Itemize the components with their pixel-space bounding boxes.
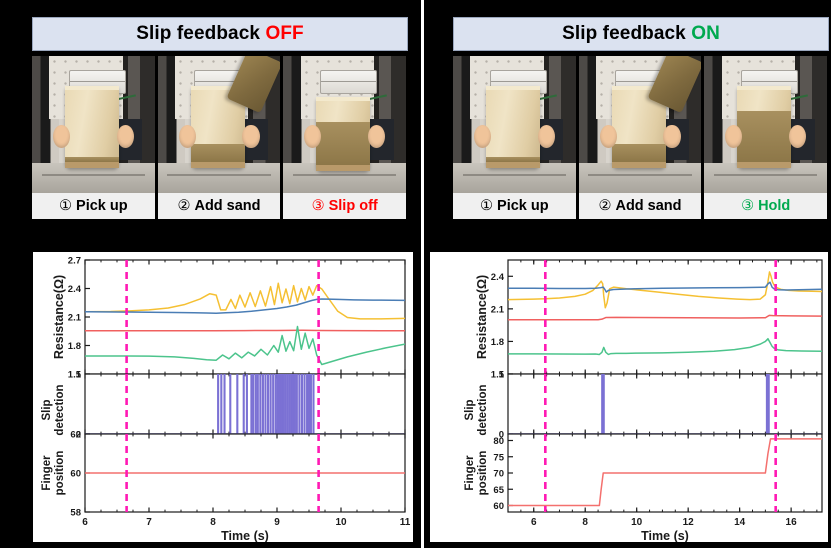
caption-on-3-num: ③ [741,198,754,214]
axis-label-slip: Slip [41,399,53,420]
photo-cell-off-1: ①Pick up [32,56,155,219]
panel-slip-feedback-off: Slip feedback OFF ①Pick up [0,0,421,548]
plot-frame [85,374,405,434]
caption-off-2-num: ② [177,198,190,214]
caption-on-2: ②Add sand [579,193,702,219]
y-tick-label: 60 [70,469,81,480]
y-tick-label: 80 [493,436,504,447]
x-tick-label: 16 [786,517,798,528]
caption-off-2-label: Add sand [194,198,260,214]
caption-off-2: ②Add sand [158,193,281,219]
x-tick-label: 14 [734,517,746,528]
caption-off-3-label: Slip off [329,198,378,214]
banner-on: Slip feedback ON [453,17,829,51]
y-tick-label: 65 [493,485,504,496]
caption-on-1: ①Pick up [453,193,576,219]
caption-on-1-num: ① [480,198,493,214]
photo-off-slipoff [283,56,406,193]
caption-on-2-num: ② [598,198,611,214]
y-tick-label: 1.8 [68,341,81,352]
caption-on-2-label: Add sand [615,198,681,214]
x-tick-label: 9 [274,517,280,528]
x-tick-label: 11 [400,517,411,528]
photo-strip-off: ①Pick up ②Add sand [32,56,406,219]
y-tick-label: 75 [493,452,504,463]
x-tick-label: 10 [335,517,347,528]
y-tick-label: 1 [76,370,82,381]
x-tick-label: 8 [582,517,588,528]
y-tick-label: 2.1 [491,304,505,315]
y-tick-label: 1 [499,370,505,381]
photo-strip-on: ①Pick up ②Add sand [453,56,827,219]
caption-on-3-label: Hold [758,198,790,214]
axis-label-finger-position: position [477,451,489,496]
photo-on-hold [704,56,827,193]
plot-frame [85,260,405,374]
y-tick-label: 70 [493,469,504,480]
photo-off-addsand [158,56,281,193]
banner-off-state: OFF [265,23,303,44]
axis-label-time: Time (s) [641,529,689,542]
x-tick-label: 6 [531,517,537,528]
photo-cell-on-2: ②Add sand [579,56,702,219]
banner-on-text: Slip feedback ON [562,23,720,45]
chart-off-svg: 1.51.82.12.42.70158606267891011Resistanc… [33,252,413,542]
caption-off-1: ①Pick up [32,193,155,219]
photo-off-pickup [32,56,155,193]
panel-slip-feedback-on: Slip feedback ON ①Pick up [424,0,831,548]
caption-off-3-num: ③ [312,198,325,214]
caption-off-1-num: ① [59,198,72,214]
axis-label-slip-detection: detection [477,384,489,435]
x-tick-label: 7 [146,517,152,528]
chart-slip-feedback-on: 1.51.82.12.40160657075806810121416Resist… [430,252,828,542]
x-tick-label: 6 [82,517,88,528]
y-tick-label: 2.7 [68,256,81,267]
caption-off-3: ③Slip off [283,193,406,219]
banner-on-label: Slip feedback [562,23,691,44]
photo-on-addsand [579,56,702,193]
x-tick-label: 10 [631,517,643,528]
banner-off: Slip feedback OFF [32,17,408,51]
photo-cell-on-1: ①Pick up [453,56,576,219]
y-tick-label: 60 [493,501,504,512]
photo-cell-off-2: ②Add sand [158,56,281,219]
banner-on-state: ON [691,23,720,44]
y-tick-label: 58 [70,508,81,519]
y-tick-label: 62 [70,430,81,441]
banner-off-label: Slip feedback [136,23,265,44]
photo-on-pickup [453,56,576,193]
axis-label-resistance: Resistance(Ω) [52,275,66,359]
caption-on-3: ③Hold [704,193,827,219]
axis-label-resistance: Resistance(Ω) [475,275,489,359]
x-tick-label: 8 [210,517,216,528]
axis-label-time: Time (s) [221,529,269,542]
caption-off-1-label: Pick up [76,198,128,214]
y-tick-label: 2.4 [68,284,82,295]
caption-on-1-label: Pick up [497,198,549,214]
axis-label-finger: Finger [41,455,53,491]
figure-root: Slip feedback OFF ①Pick up [0,0,831,548]
photo-cell-on-3: ③Hold [704,56,827,219]
photo-cell-off-3: ③Slip off [283,56,406,219]
banner-off-text: Slip feedback OFF [136,23,303,45]
chart-slip-feedback-off: 1.51.82.12.42.70158606267891011Resistanc… [33,252,413,542]
y-tick-label: 1.8 [491,337,504,348]
axis-label-finger: Finger [464,455,476,491]
chart-on-svg: 1.51.82.12.40160657075806810121416Resist… [430,252,828,542]
x-tick-label: 12 [683,517,695,528]
axis-label-slip-detection: detection [54,384,66,435]
axis-label-slip: Slip [464,399,476,420]
axis-label-finger-position: position [54,451,66,496]
y-tick-label: 2.1 [68,313,82,324]
y-tick-label: 2.4 [491,272,505,283]
